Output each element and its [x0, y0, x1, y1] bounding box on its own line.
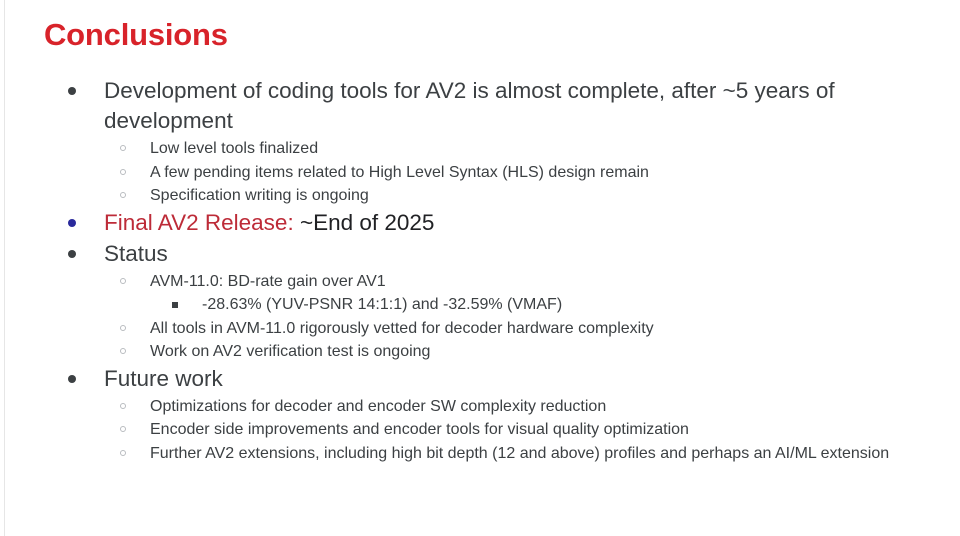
- bullet-text: Optimizations for decoder and encoder SW…: [150, 398, 606, 415]
- bullet-circle-icon: [120, 348, 126, 354]
- list-item: Low level tools finalized: [0, 137, 960, 161]
- list-item: -28.63% (YUV-PSNR 14:1:1) and -32.59% (V…: [0, 293, 960, 317]
- bullet-text: Low level tools finalized: [150, 140, 318, 157]
- list-item-final-release: Final AV2 Release: ~End of 2025: [0, 208, 960, 238]
- bullet-text-highlight: Final AV2 Release:: [104, 210, 294, 235]
- list-item: All tools in AVM-11.0 rigorously vetted …: [0, 317, 960, 341]
- bullet-circle-icon: [120, 169, 126, 175]
- bullet-circle-icon: [120, 450, 126, 456]
- bullet-text: Encoder side improvements and encoder to…: [150, 421, 689, 438]
- bullet-circle-icon: [120, 278, 126, 284]
- bullet-text: Status: [104, 241, 168, 266]
- bullet-list: Development of coding tools for AV2 is a…: [0, 76, 960, 465]
- bullet-text: Specification writing is ongoing: [150, 187, 369, 204]
- bullet-text: Further AV2 extensions, including high b…: [150, 445, 889, 462]
- list-item: Encoder side improvements and encoder to…: [0, 418, 960, 442]
- bullet-disc-icon: [68, 219, 76, 227]
- bullet-circle-icon: [120, 325, 126, 331]
- bullet-circle-icon: [120, 192, 126, 198]
- bullet-text: Future work: [104, 366, 223, 391]
- bullet-text: Development of coding tools for AV2 is a…: [104, 78, 835, 133]
- slide-canvas: Conclusions Development of coding tools …: [0, 0, 960, 536]
- list-item: AVM-11.0: BD-rate gain over AV1: [0, 270, 960, 294]
- bullet-text: Work on AV2 verification test is ongoing: [150, 343, 430, 360]
- list-item-future-work: Future work: [0, 364, 960, 394]
- list-item: Further AV2 extensions, including high b…: [0, 442, 960, 466]
- bullet-text: ~End of 2025: [294, 210, 435, 235]
- bullet-text: -28.63% (YUV-PSNR 14:1:1) and -32.59% (V…: [202, 296, 562, 313]
- bullet-disc-icon: [68, 375, 76, 383]
- bullet-text: AVM-11.0: BD-rate gain over AV1: [150, 273, 386, 290]
- list-item: Specification writing is ongoing: [0, 184, 960, 208]
- slide-body: Development of coding tools for AV2 is a…: [0, 76, 960, 465]
- bullet-disc-icon: [68, 250, 76, 258]
- bullet-circle-icon: [120, 403, 126, 409]
- bullet-text: All tools in AVM-11.0 rigorously vetted …: [150, 320, 654, 337]
- bullet-disc-icon: [68, 87, 76, 95]
- list-item: A few pending items related to High Leve…: [0, 161, 960, 185]
- bullet-circle-icon: [120, 426, 126, 432]
- list-item-status: Status: [0, 239, 960, 269]
- page-title: Conclusions: [44, 16, 228, 53]
- bullet-circle-icon: [120, 145, 126, 151]
- list-item: Optimizations for decoder and encoder SW…: [0, 395, 960, 419]
- bullet-text: A few pending items related to High Leve…: [150, 164, 649, 181]
- list-item: Development of coding tools for AV2 is a…: [0, 76, 960, 136]
- bullet-square-icon: [172, 302, 178, 308]
- list-item: Work on AV2 verification test is ongoing: [0, 340, 960, 364]
